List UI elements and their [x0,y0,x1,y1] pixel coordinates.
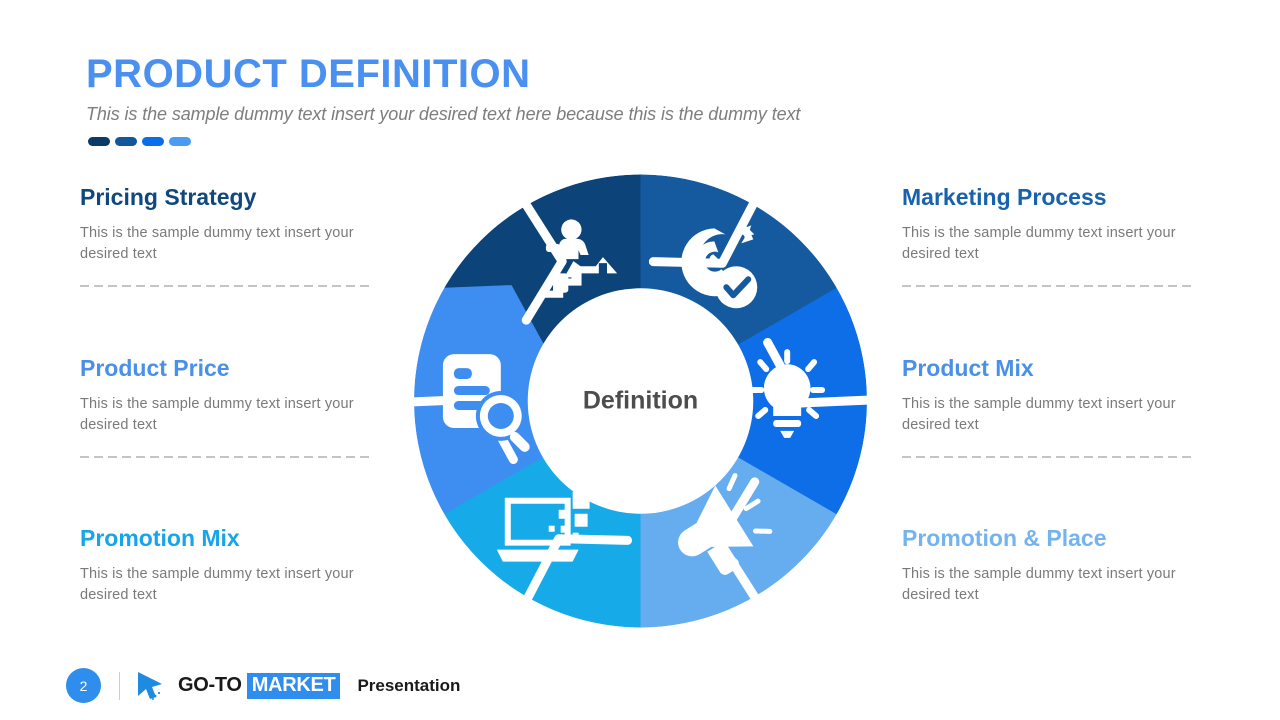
body-product-price: This is the sample dummy text insert you… [80,394,380,436]
heading-promotion-place: Promotion & Place [902,526,1202,551]
heading-product-mix: Product Mix [902,356,1202,381]
divider-right-1 [902,285,1194,287]
body-product-mix: This is the sample dummy text insert you… [902,394,1202,436]
slide-footer: 2 GO-TO MARKET Presentation [66,668,460,703]
accent-dash-row [88,137,191,146]
heading-pricing-strategy: Pricing Strategy [80,185,380,210]
text-block-product-mix[interactable]: Product Mix This is the sample dummy tex… [902,356,1202,458]
divider-left-1 [80,285,372,287]
page-subtitle: This is the sample dummy text insert you… [86,104,800,125]
center-label: Definition [583,387,698,416]
text-block-product-price[interactable]: Product Price This is the sample dummy t… [80,356,380,458]
cycle-diagram: Definition [413,172,868,630]
page-title: PRODUCT DEFINITION [86,52,531,97]
accent-dash-4 [169,137,191,146]
cursor-logo-icon [136,671,168,701]
body-promotion-mix: This is the sample dummy text insert you… [80,564,380,606]
text-block-pricing-strategy[interactable]: Pricing Strategy This is the sample dumm… [80,185,380,287]
body-pricing-strategy: This is the sample dummy text insert you… [80,223,380,265]
page-number-badge: 2 [66,668,101,703]
heading-product-price: Product Price [80,356,380,381]
brand-suffix: Presentation [357,676,460,696]
brand-lockup: GO-TO MARKET Presentation [178,673,460,699]
text-block-marketing-process[interactable]: Marketing Process This is the sample dum… [902,185,1202,287]
accent-dash-3 [142,137,164,146]
heading-marketing-process: Marketing Process [902,185,1202,210]
accent-dash-1 [88,137,110,146]
footer-divider [119,672,120,700]
heading-promotion-mix: Promotion Mix [80,526,380,551]
divider-right-2 [902,456,1194,458]
body-marketing-process: This is the sample dummy text insert you… [902,223,1202,265]
text-block-promotion-place[interactable]: Promotion & Place This is the sample dum… [902,526,1202,606]
brand-first: GO-TO [178,674,242,697]
accent-dash-2 [115,137,137,146]
text-block-promotion-mix[interactable]: Promotion Mix This is the sample dummy t… [80,526,380,606]
divider-left-2 [80,456,372,458]
brand-highlight: MARKET [247,673,341,699]
body-promotion-place: This is the sample dummy text insert you… [902,564,1202,606]
slide-canvas: PRODUCT DEFINITION This is the sample du… [0,0,1280,720]
